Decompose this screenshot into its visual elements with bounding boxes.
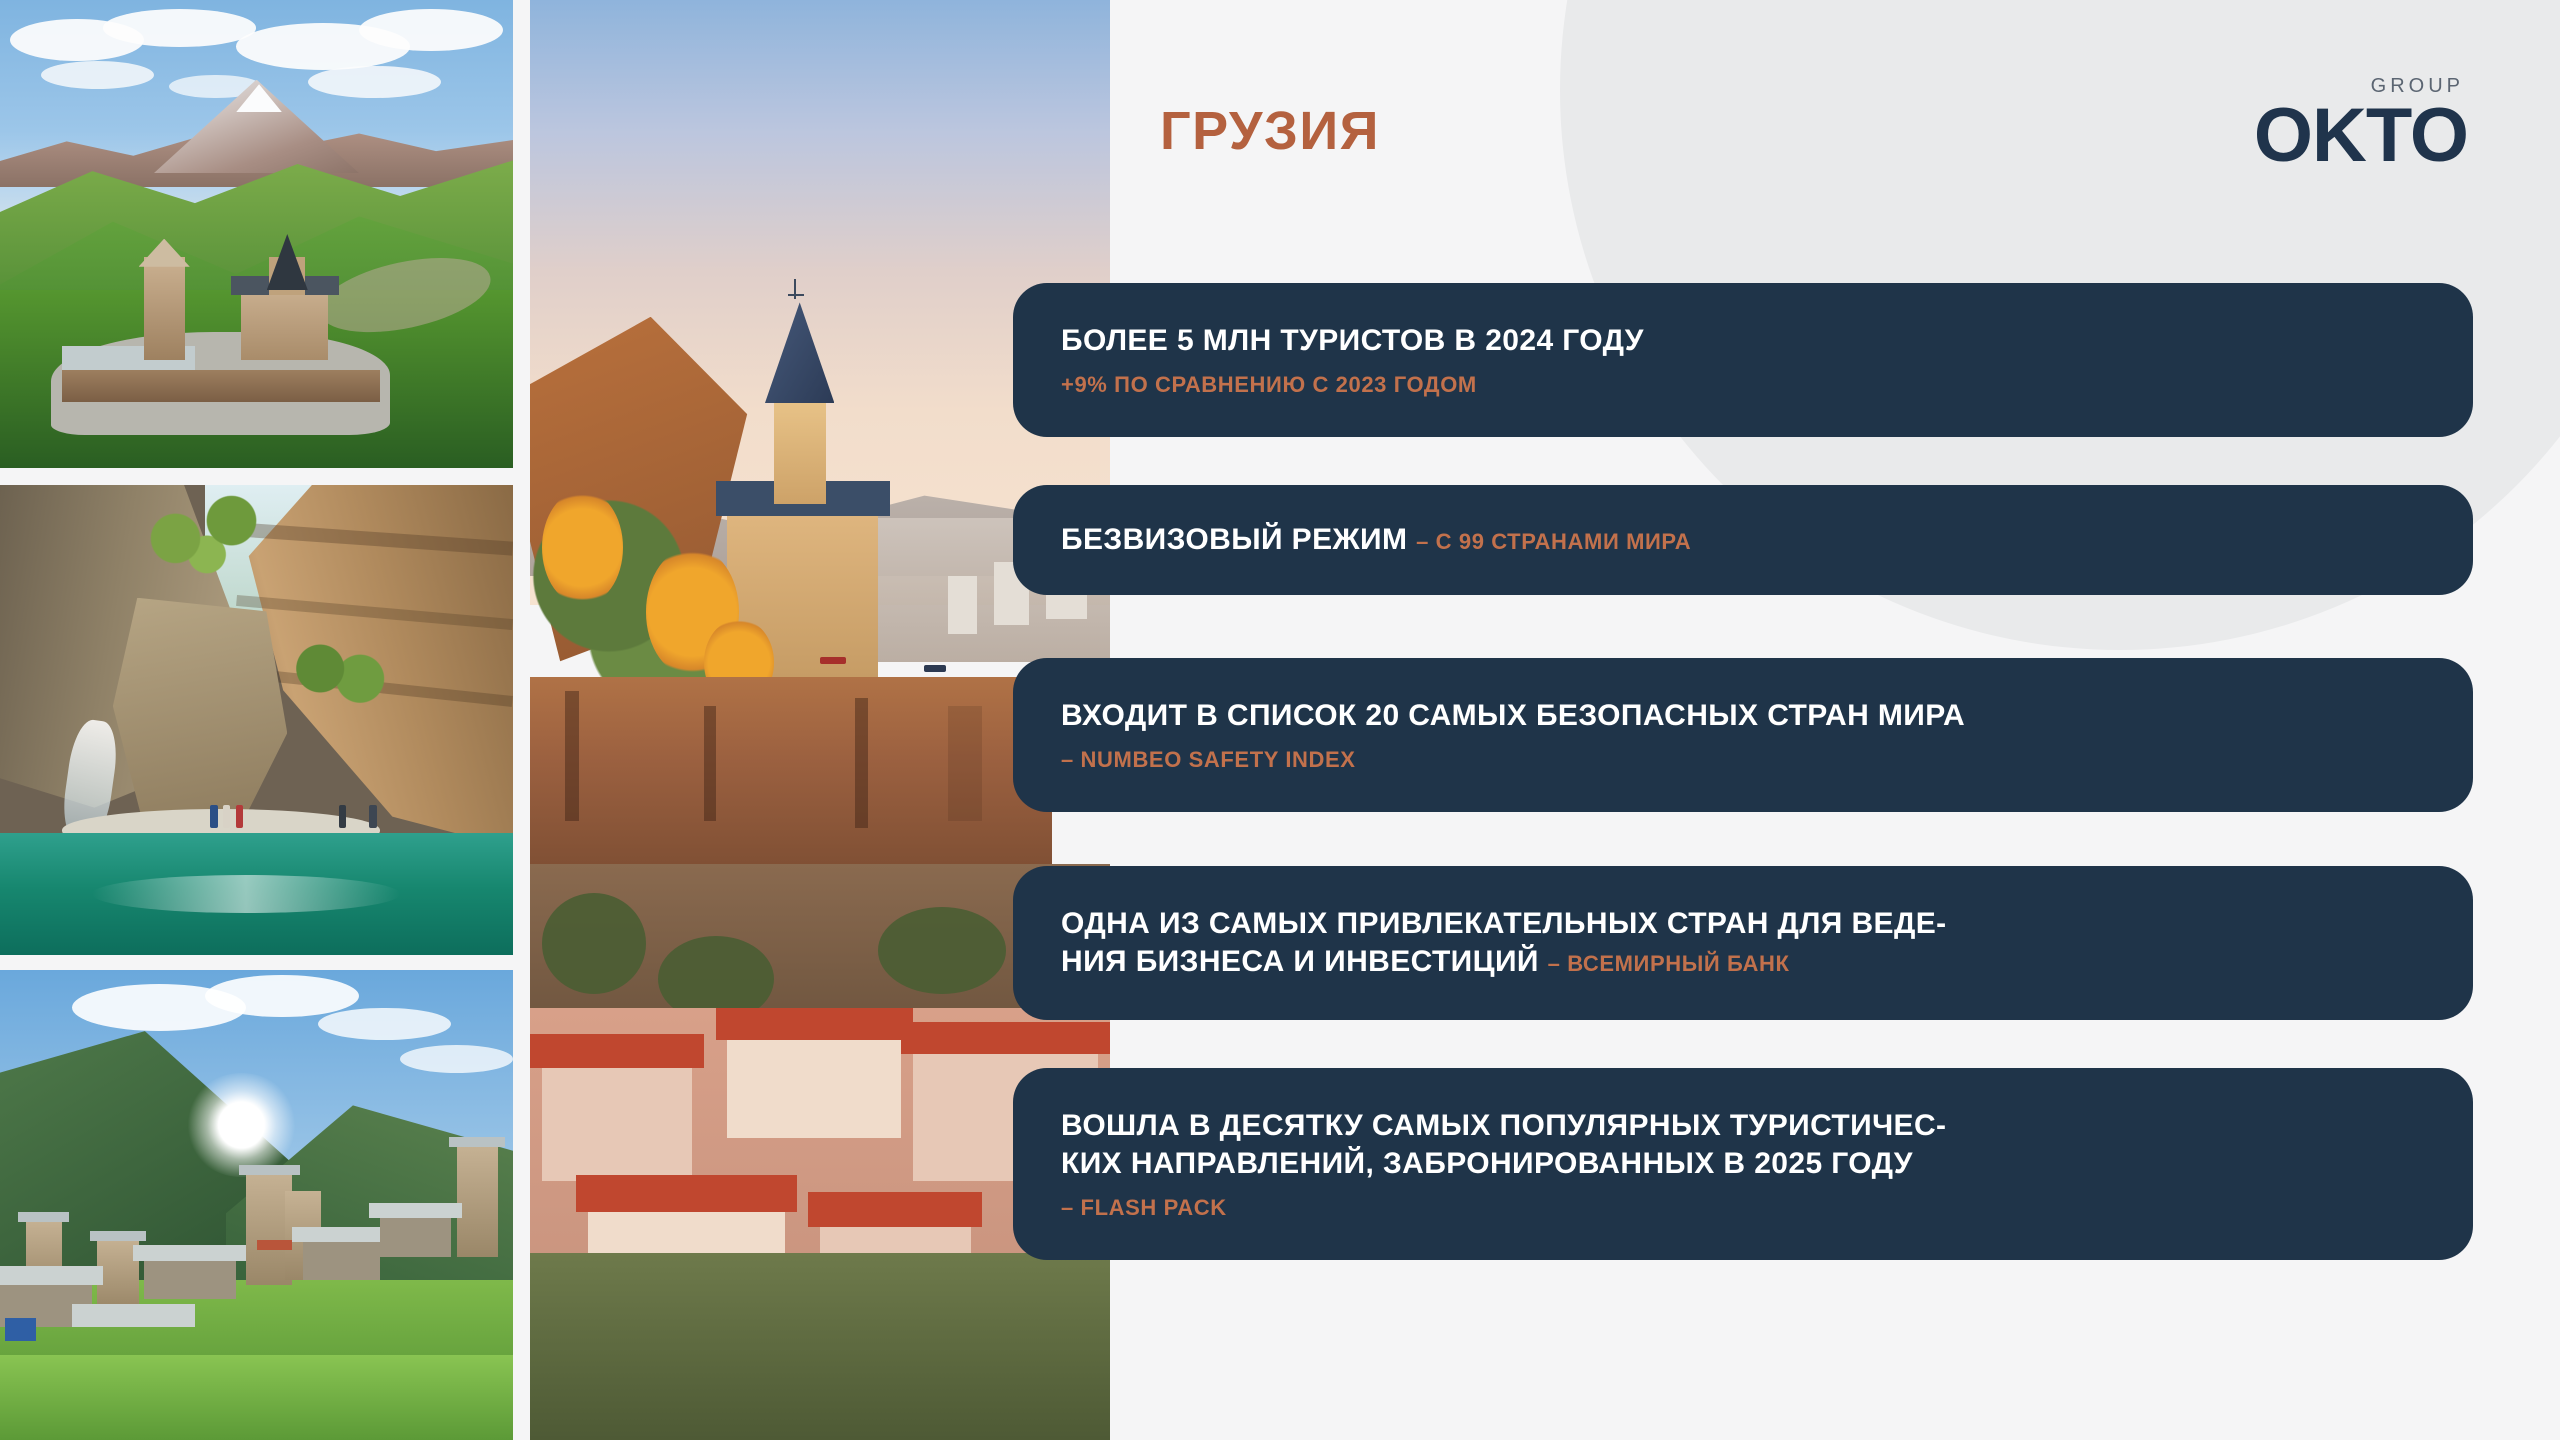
fact-card-visa-free[interactable]: БЕЗВИЗОВЫЙ РЕЖИМ – С 99 СТРАНАМИ МИРА (1013, 485, 2473, 595)
fact-card-source: – FLASH PACK (1061, 1195, 1946, 1221)
photo-canyon (0, 485, 513, 955)
fact-card-source: – NUMBEO SAFETY INDEX (1061, 747, 1965, 773)
okto-group-logo: GROUP OKTO (2254, 76, 2468, 174)
fact-card-source: – ВСЕМИРНЫЙ БАНК (1548, 951, 1790, 976)
fact-card-headline-line2: КИХ НАПРАВЛЕНИЙ, ЗАБРОНИРОВАННЫХ В 2025 … (1061, 1145, 1946, 1183)
fact-card-tourists[interactable]: БОЛЕЕ 5 МЛН ТУРИСТОВ В 2024 ГОДУ +9% ПО … (1013, 283, 2473, 437)
fact-card-headline-line2: НИЯ БИЗНЕСА И ИНВЕСТИЦИЙ – ВСЕМИРНЫЙ БАН… (1061, 943, 1947, 981)
fact-card-business[interactable]: ОДНА ИЗ САМЫХ ПРИВЛЕКАТЕЛЬНЫХ СТРАН ДЛЯ … (1013, 866, 2473, 1020)
fact-card-headline-line1: ОДНА ИЗ САМЫХ ПРИВЛЕКАТЕЛЬНЫХ СТРАН ДЛЯ … (1061, 905, 1947, 943)
photo-gap (0, 468, 513, 485)
fact-card-source: – С 99 СТРАНАМИ МИРА (1416, 529, 1691, 554)
fact-card-headline: ВХОДИТ В СПИСОК 20 САМЫХ БЕЗОПАСНЫХ СТРА… (1061, 697, 1965, 735)
fact-card-headline-line1: ВОШЛА В ДЕСЯТКУ САМЫХ ПОПУЛЯРНЫХ ТУРИСТИ… (1061, 1107, 1946, 1145)
logo-wordmark: OKTO (2254, 98, 2468, 174)
fact-card-headline: БОЛЕЕ 5 МЛН ТУРИСТОВ В 2024 ГОДУ (1061, 322, 1644, 360)
photo-svaneti-village (0, 970, 513, 1440)
fact-card-headline: БЕЗВИЗОВЫЙ РЕЖИМ – С 99 СТРАНАМИ МИРА (1061, 521, 1691, 559)
fact-card-destinations[interactable]: ВОШЛА В ДЕСЯТКУ САМЫХ ПОПУЛЯРНЫХ ТУРИСТИ… (1013, 1068, 2473, 1260)
left-photo-column (0, 0, 513, 1440)
photo-gap (0, 955, 513, 970)
fact-card-source: +9% ПО СРАВНЕНИЮ С 2023 ГОДОМ (1061, 372, 1644, 398)
fact-card-list: БОЛЕЕ 5 МЛН ТУРИСТОВ В 2024 ГОДУ +9% ПО … (1013, 0, 2473, 1440)
fact-card-safety[interactable]: ВХОДИТ В СПИСОК 20 САМЫХ БЕЗОПАСНЫХ СТРА… (1013, 658, 2473, 812)
photo-kazbegi-church (0, 0, 513, 468)
